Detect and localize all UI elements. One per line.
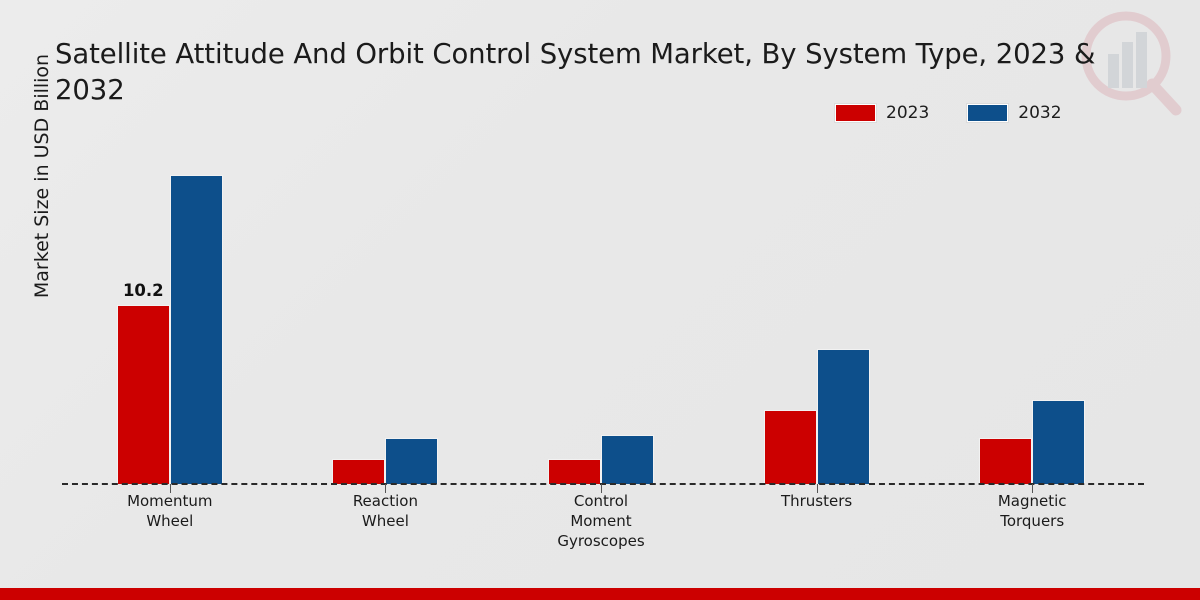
bar-group (278, 150, 494, 484)
x-axis-category-label: Thrusters (712, 492, 922, 512)
bar-2032[interactable] (817, 349, 870, 484)
category-label-line: Torquers (927, 512, 1137, 532)
bar-2023[interactable] (764, 410, 817, 484)
category-label-line: Wheel (280, 512, 490, 532)
bar-2032[interactable] (1032, 400, 1085, 484)
chart-page: Satellite Attitude And Orbit Control Sys… (0, 0, 1200, 600)
bar-group (493, 150, 709, 484)
legend-label-2032: 2032 (1018, 103, 1061, 123)
x-axis-category-label: ReactionWheel (280, 492, 490, 532)
category-label-line: Wheel (65, 512, 275, 532)
legend-label-2023: 2023 (886, 103, 929, 123)
footer-accent-bar (0, 588, 1200, 600)
category-label-line: Gyroscopes (496, 532, 706, 552)
bar-group (709, 150, 925, 484)
category-label-line: Control (496, 492, 706, 512)
bar-group: 10.2 (62, 150, 278, 484)
category-label-line: Magnetic (927, 492, 1137, 512)
category-label-line: Moment (496, 512, 706, 532)
y-axis-label: Market Size in USD Billion (31, 0, 53, 356)
bar-2032[interactable] (601, 435, 654, 484)
x-axis-category-label: MagneticTorquers (927, 492, 1137, 532)
legend-swatch-2023 (835, 104, 876, 122)
bar-2032[interactable] (170, 175, 223, 484)
bar-value-label: 10.2 (123, 281, 164, 300)
bar-group (924, 150, 1140, 484)
category-label-line: Reaction (280, 492, 490, 512)
bar-2023[interactable] (979, 438, 1032, 484)
x-axis-category-label: ControlMomentGyroscopes (496, 492, 706, 552)
legend-item-2032[interactable]: 2032 (967, 103, 1061, 123)
x-axis-category-label: MomentumWheel (65, 492, 275, 532)
bar-2023[interactable] (332, 459, 385, 484)
plot-area: 10.2 (62, 150, 1140, 484)
bar-2023[interactable] (548, 459, 601, 484)
legend-swatch-2032 (967, 104, 1008, 122)
category-label-line: Thrusters (712, 492, 922, 512)
bar-2023[interactable]: 10.2 (117, 305, 170, 484)
bar-2032[interactable] (385, 438, 438, 484)
chart-legend: 2023 2032 (835, 103, 1062, 123)
chart-title: Satellite Attitude And Orbit Control Sys… (55, 36, 1145, 109)
legend-item-2023[interactable]: 2023 (835, 103, 929, 123)
category-label-line: Momentum (65, 492, 275, 512)
x-axis-baseline (62, 483, 1144, 485)
